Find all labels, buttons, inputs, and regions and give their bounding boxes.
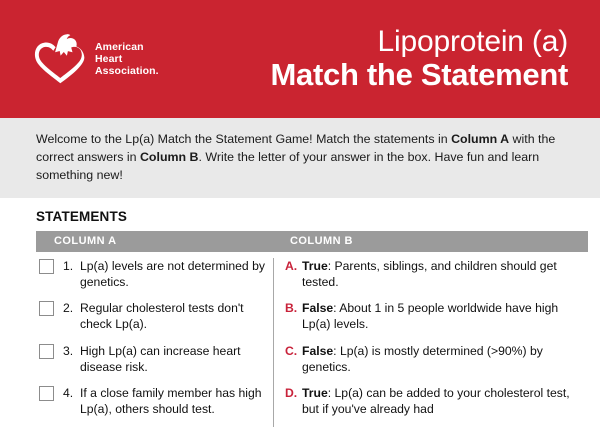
- answer-verdict: True: [302, 259, 328, 273]
- statement-number: 4.: [63, 385, 80, 401]
- statement-text: If a close family member has high Lp(a),…: [80, 385, 267, 417]
- answer-text: False: About 1 in 5 people worldwide hav…: [302, 300, 588, 332]
- list-item: C. False: Lp(a) is mostly determined (>9…: [285, 343, 588, 375]
- answer-letter: B.: [285, 300, 302, 316]
- intro-bold-column-b: Column B: [140, 150, 199, 164]
- column-b-list: A. True: Parents, siblings, and children…: [274, 258, 588, 427]
- answer-verdict: False: [302, 344, 333, 358]
- answer-letter: D.: [285, 385, 302, 401]
- statement-number: 3.: [63, 343, 80, 359]
- answer-text: True: Parents, siblings, and children sh…: [302, 258, 588, 290]
- page-header: American Heart Association. Lipoprotein …: [0, 0, 600, 118]
- intro-band: Welcome to the Lp(a) Match the Statement…: [0, 118, 600, 198]
- column-headers-bar: COLUMN A COLUMN B: [36, 231, 588, 252]
- title-activity: Match the Statement: [271, 58, 568, 91]
- answer-verdict: False: [302, 301, 333, 315]
- statement-text: High Lp(a) can increase heart disease ri…: [80, 343, 267, 375]
- page-title: Lipoprotein (a) Match the Statement: [271, 26, 576, 92]
- answer-detail: : Lp(a) can be added to your cholesterol…: [302, 386, 570, 416]
- statement-text: Lp(a) levels are not determined by genet…: [80, 258, 267, 290]
- statements-section: STATEMENTS COLUMN A COLUMN B 1. Lp(a) le…: [0, 198, 600, 427]
- answer-detail: : Parents, siblings, and children should…: [302, 259, 557, 289]
- statement-number: 2.: [63, 300, 80, 316]
- answer-text: False: Lp(a) is mostly determined (>90%)…: [302, 343, 588, 375]
- column-b-header: COLUMN B: [280, 235, 353, 247]
- answer-letter: A.: [285, 258, 302, 274]
- column-a-header: COLUMN A: [36, 235, 280, 247]
- aha-heart-torch-icon: [34, 34, 86, 84]
- statement-number: 1.: [63, 258, 80, 274]
- list-item[interactable]: 1. Lp(a) levels are not determined by ge…: [36, 258, 267, 290]
- intro-text: Welcome to the Lp(a) Match the Statement…: [36, 130, 570, 185]
- aha-logo: American Heart Association.: [34, 34, 159, 84]
- answer-detail: : About 1 in 5 people worldwide have hig…: [302, 301, 558, 331]
- intro-part-1: Welcome to the Lp(a) Match the Statement…: [36, 132, 451, 146]
- section-heading: STATEMENTS: [36, 209, 586, 224]
- title-subject: Lipoprotein (a): [271, 26, 568, 57]
- answer-letter: C.: [285, 343, 302, 359]
- intro-bold-column-a: Column A: [451, 132, 509, 146]
- list-item[interactable]: 3. High Lp(a) can increase heart disease…: [36, 343, 267, 375]
- list-item[interactable]: 4. If a close family member has high Lp(…: [36, 385, 267, 417]
- answer-checkbox[interactable]: [39, 301, 54, 316]
- answer-verdict: True: [302, 386, 328, 400]
- answer-checkbox[interactable]: [39, 386, 54, 401]
- list-item[interactable]: 2. Regular cholesterol tests don't check…: [36, 300, 267, 332]
- answer-text: True: Lp(a) can be added to your cholest…: [302, 385, 588, 417]
- list-item: A. True: Parents, siblings, and children…: [285, 258, 588, 290]
- answer-detail: : Lp(a) is mostly determined (>90%) by g…: [302, 344, 543, 374]
- columns-wrapper: 1. Lp(a) levels are not determined by ge…: [36, 258, 588, 427]
- aha-wordmark: American Heart Association.: [95, 41, 159, 78]
- answer-checkbox[interactable]: [39, 259, 54, 274]
- column-a-list: 1. Lp(a) levels are not determined by ge…: [36, 258, 274, 427]
- list-item: B. False: About 1 in 5 people worldwide …: [285, 300, 588, 332]
- list-item: D. True: Lp(a) can be added to your chol…: [285, 385, 588, 417]
- answer-checkbox[interactable]: [39, 344, 54, 359]
- statement-text: Regular cholesterol tests don't check Lp…: [80, 300, 267, 332]
